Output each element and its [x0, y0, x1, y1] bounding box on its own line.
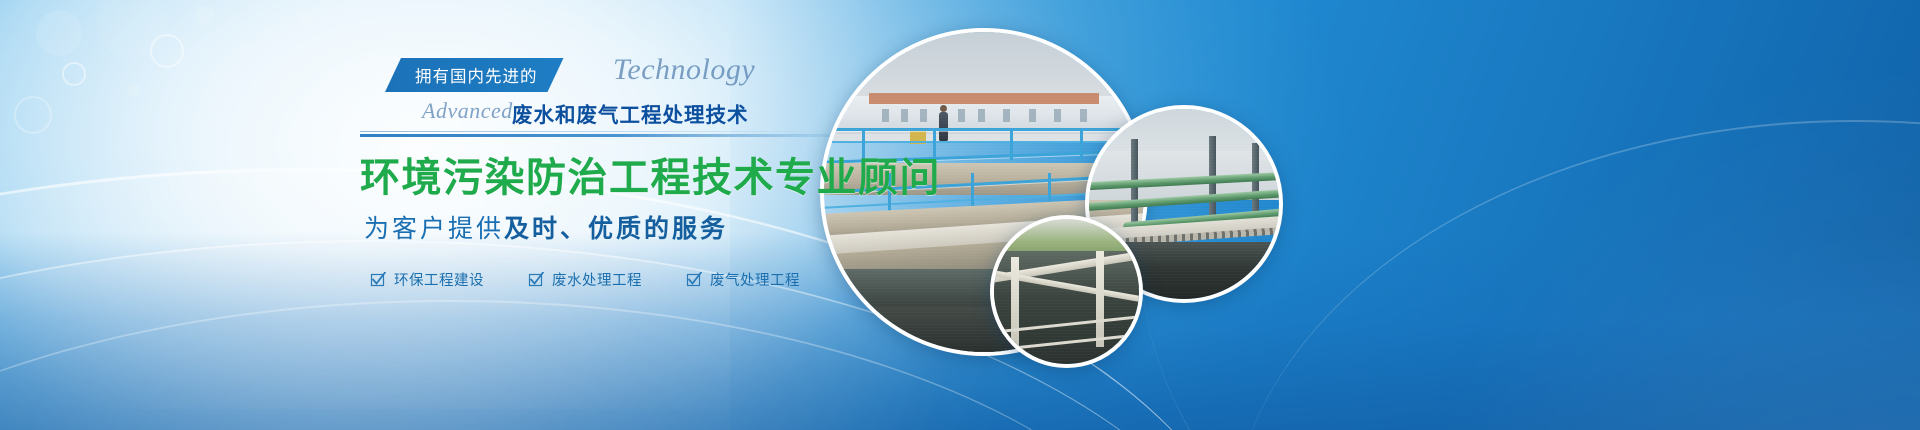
check-icon	[686, 272, 702, 288]
advanced-english: Advanced	[422, 98, 513, 124]
advanced-row: Advanced 废水和废气工程处理技术	[360, 96, 880, 128]
feature-label: 废气处理工程	[710, 269, 800, 290]
promo-banner: 拥有国内先进的 Technology Advanced 废水和废气工程处理技术 …	[0, 0, 1920, 430]
photo-cluster	[0, 0, 1920, 430]
tagline-chip: 拥有国内先进的	[385, 58, 564, 92]
feature-item[interactable]: 废气处理工程	[686, 269, 800, 290]
feature-label: 废水处理工程	[552, 269, 642, 290]
sludge-basin-walkway-photo	[990, 215, 1143, 368]
subtitle: 为客户提供及时、优质的服务	[360, 209, 880, 245]
tagline-english: Technology	[613, 53, 755, 87]
feature-list: 环保工程建设 废水处理工程 废气处理工程	[360, 269, 880, 290]
feature-item[interactable]: 废水处理工程	[528, 269, 642, 290]
subtitle-plain: 为客户提供	[364, 216, 504, 243]
check-icon	[528, 272, 544, 288]
feature-item[interactable]: 环保工程建设	[370, 269, 484, 290]
subtitle-strong: 及时、优质的服务	[504, 216, 728, 243]
feature-label: 环保工程建设	[394, 269, 484, 290]
advanced-chinese: 废水和废气工程处理技术	[512, 98, 749, 128]
tagline-row: 拥有国内先进的 Technology	[360, 58, 880, 92]
page-title: 环境污染防治工程技术专业顾问	[360, 145, 880, 203]
check-icon	[370, 272, 386, 288]
banner-text-block: 拥有国内先进的 Technology Advanced 废水和废气工程处理技术 …	[360, 58, 880, 290]
divider-rule	[360, 134, 830, 137]
